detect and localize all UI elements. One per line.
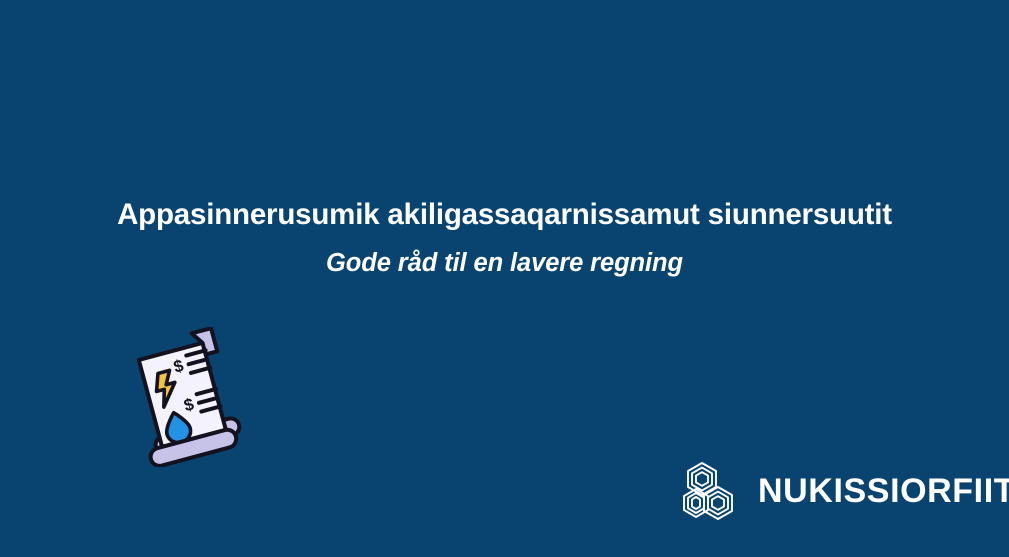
logo-wordmark: NUKISSIORFIIT [758,474,1009,508]
brand-logo: NUKISSIORFIIT [678,455,978,527]
page-title: Appasinnerusumik akiligassaqarnissamut s… [0,193,1009,237]
nukissiorfiit-hexagon-knot-icon [678,459,742,523]
page-subtitle: Gode råd til en lavere regning [0,245,1009,281]
utility-bill-scroll-illustration: $ $ [124,327,248,467]
utility-bill-scroll-icon: $ $ [124,327,248,467]
presentation-slide: Appasinnerusumik akiligassaqarnissamut s… [0,0,1009,557]
title-block: Appasinnerusumik akiligassaqarnissamut s… [0,193,1009,281]
